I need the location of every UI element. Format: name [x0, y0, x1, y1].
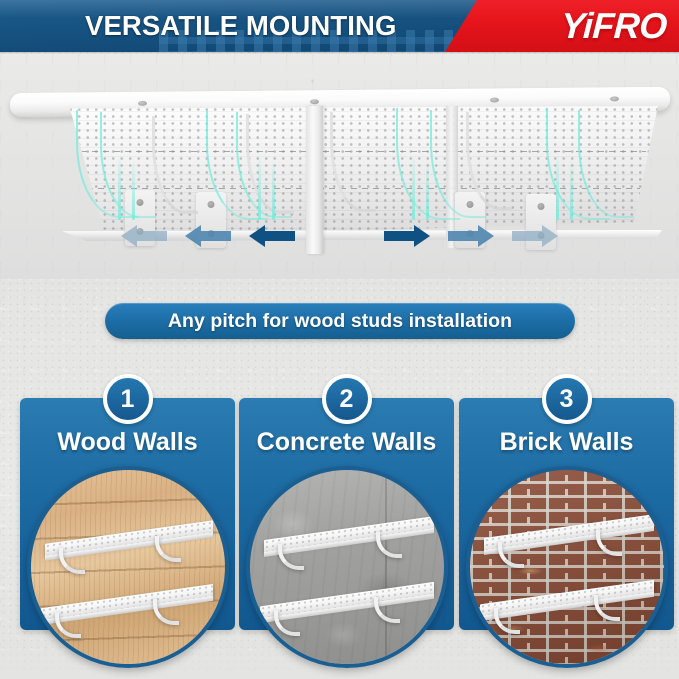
rail-screw-icon — [610, 96, 619, 101]
card-title: Concrete Walls — [239, 428, 454, 457]
header-divider — [0, 52, 679, 54]
ghost-bracket-leg — [258, 154, 261, 220]
arrow-right-icon — [512, 223, 558, 249]
card-photo-concrete — [246, 466, 448, 668]
card-number-badge: 2 — [322, 374, 372, 424]
pitch-direction-arrows — [0, 216, 679, 256]
card-title: Brick Walls — [459, 428, 674, 457]
card-number-badge: 3 — [542, 374, 592, 424]
wood-plank-wall-texture — [31, 470, 225, 664]
arrow-left-icon — [249, 223, 295, 249]
ghost-bracket-leg — [570, 160, 573, 220]
card-concrete-walls[interactable]: 2 Concrete Walls — [239, 398, 454, 630]
card-brick-walls[interactable]: 3 Brick Walls — [459, 398, 674, 630]
header-bar: VERSATILE MOUNTING YiFRO — [0, 0, 679, 52]
card-number-badge: 1 — [103, 374, 153, 424]
product-feature-image: VERSATILE MOUNTING YiFRO — [0, 0, 679, 679]
pitch-callout-text: Any pitch for wood studs installation — [168, 310, 512, 333]
arrow-right-icon — [448, 223, 494, 249]
ghost-bracket-leg — [412, 154, 415, 220]
rail-screw-icon — [490, 97, 499, 102]
wall-type-cards: 1 Wood Walls 2 — [0, 398, 679, 679]
concrete-wall-texture — [250, 470, 444, 664]
ghost-bracket-leg — [132, 160, 135, 220]
brick-color-variation — [470, 470, 664, 664]
card-wood-walls[interactable]: 1 Wood Walls — [20, 398, 235, 630]
card-title: Wood Walls — [20, 428, 235, 457]
page-title: VERSATILE MOUNTING — [85, 0, 396, 52]
rail-screw-icon — [310, 99, 319, 104]
ghost-bracket-leg — [556, 154, 559, 220]
ghost-bracket-leg — [118, 154, 121, 220]
rail-screw-icon — [138, 101, 147, 106]
hero-shelf-illustration — [0, 54, 679, 279]
ghost-bracket-leg — [426, 160, 429, 220]
brick-wall-texture — [470, 470, 664, 664]
brand-logo-text: YiFRO — [560, 5, 668, 47]
card-photo-brick — [466, 466, 668, 668]
ghost-bracket-leg — [272, 160, 275, 220]
pitch-callout-banner: Any pitch for wood studs installation — [105, 303, 575, 339]
card-photo-wood — [27, 466, 229, 668]
arrow-left-icon — [185, 223, 231, 249]
arrow-left-icon — [121, 223, 167, 249]
arrow-right-icon — [384, 223, 430, 249]
